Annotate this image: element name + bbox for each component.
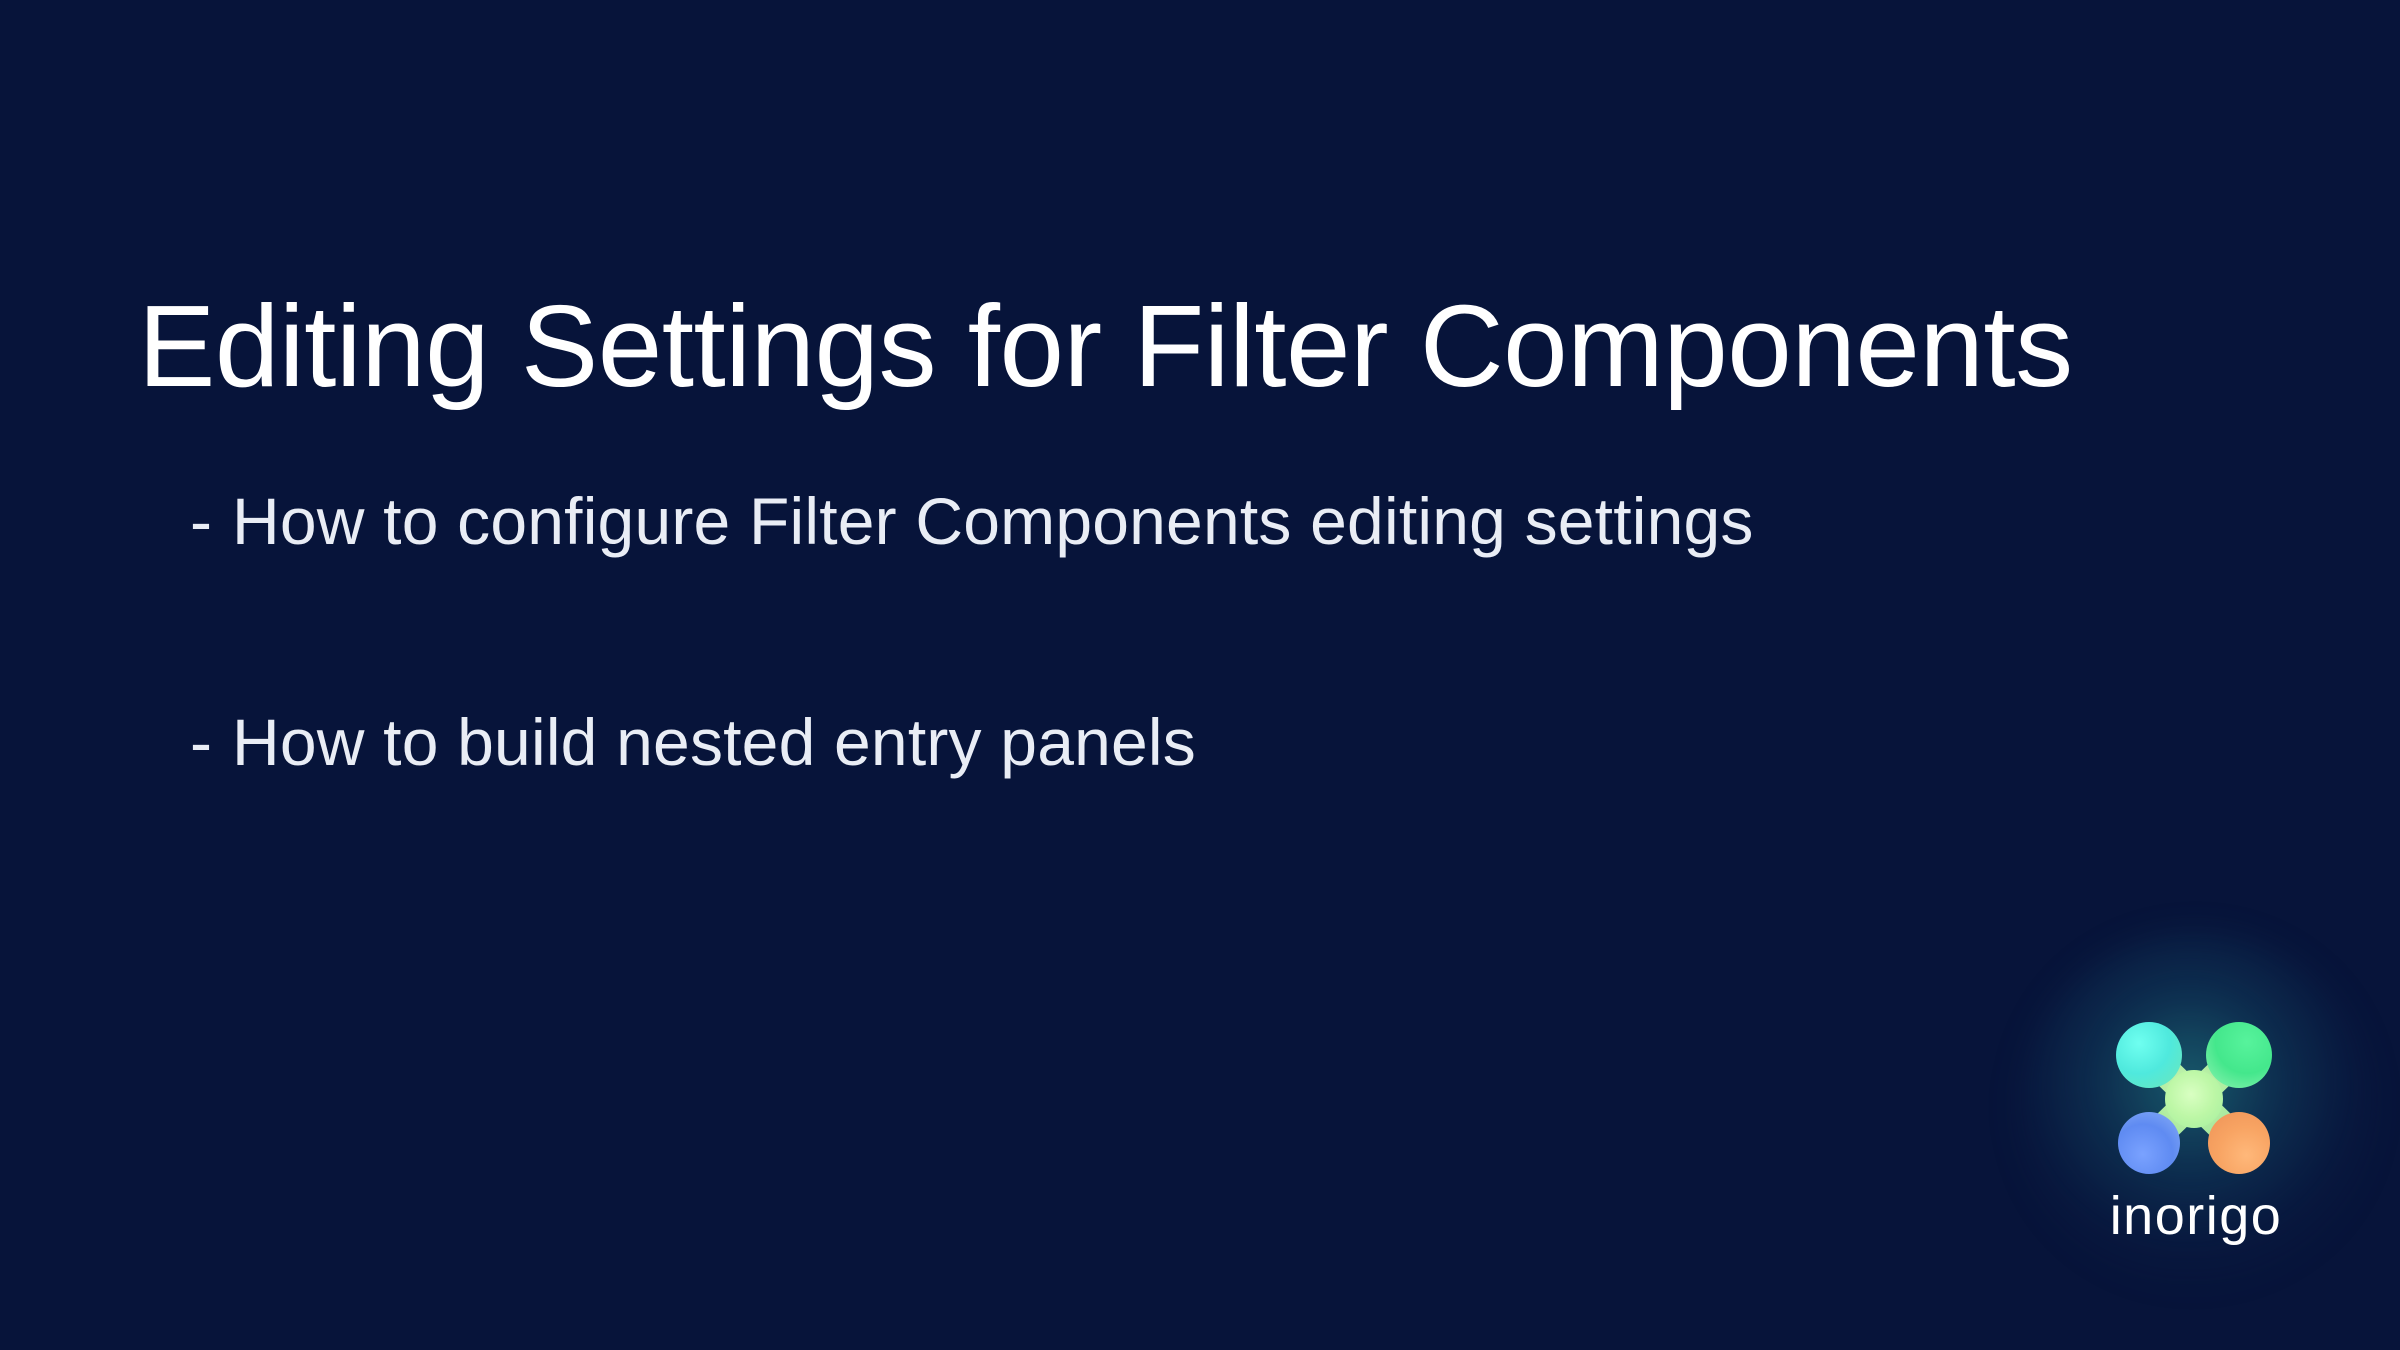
bullet-text: How to build nested entry panels	[232, 706, 1196, 779]
slide-title: Editing Settings for Filter Components	[138, 280, 2288, 413]
logo-wordmark: inorigo	[2016, 1185, 2376, 1247]
bullet-item: - How to build nested entry panels	[190, 706, 2240, 779]
bullet-dash-icon: -	[190, 485, 232, 558]
inorigo-x-logo-icon	[2104, 1016, 2284, 1181]
bullet-text: How to configure Filter Components editi…	[232, 485, 1754, 558]
bullet-item: - How to configure Filter Components edi…	[190, 485, 2240, 558]
bullet-list: - How to configure Filter Components edi…	[190, 485, 2240, 778]
bullet-dash-icon: -	[190, 706, 232, 779]
brand-logo: inorigo	[2016, 930, 2376, 1290]
presentation-slide: Editing Settings for Filter Components -…	[0, 0, 2400, 1350]
